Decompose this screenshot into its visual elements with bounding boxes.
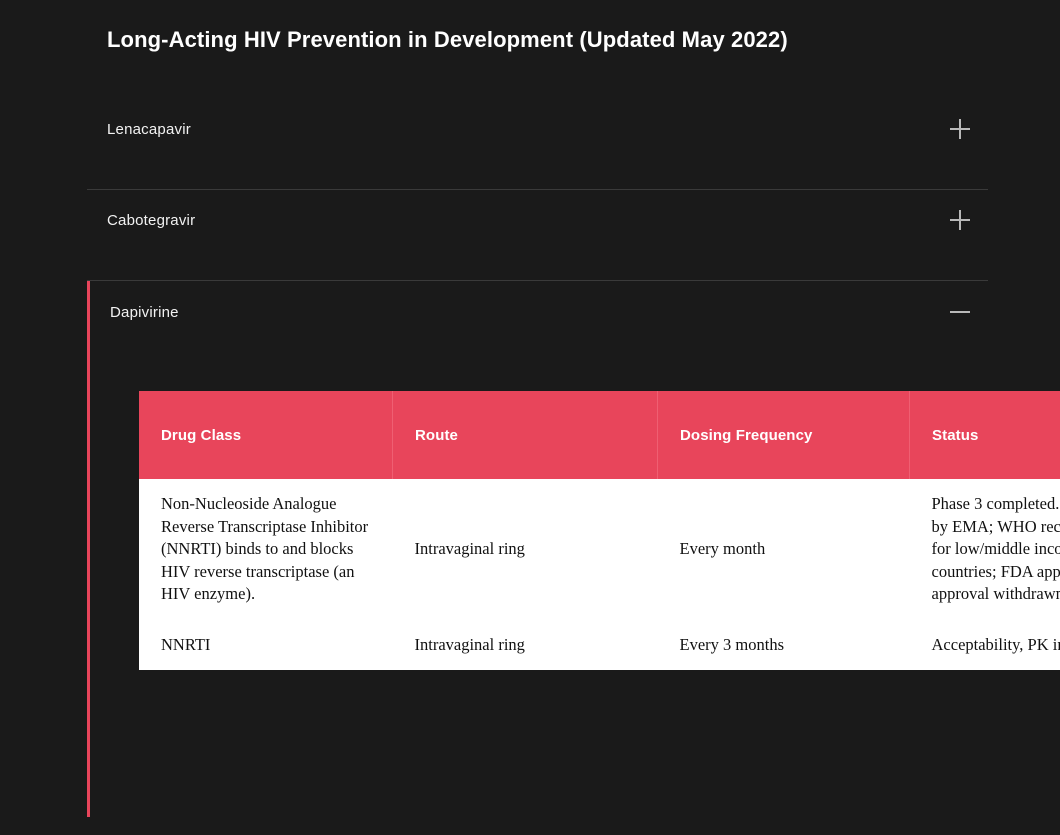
drug-accordion: Lenacapavir Cabotegravir Dapivirine (87, 99, 988, 817)
plus-icon[interactable] (948, 117, 972, 141)
plus-icon[interactable] (948, 208, 972, 232)
table-row: Non-Nucleoside Analogue Reverse Transcri… (139, 479, 1060, 620)
table-header-row: Drug Class Route Dosing Frequency Status (139, 391, 1060, 479)
table-header: Drug Class Route Dosing Frequency Status (139, 391, 1060, 479)
cell-drug-class: Non-Nucleoside Analogue Reverse Transcri… (139, 479, 393, 620)
page-title: Long-Acting HIV Prevention in Developmen… (107, 24, 788, 56)
table-row: NNRTI Intravaginal ring Every 3 months A… (139, 620, 1060, 671)
accordion-label-lenacapavir: Lenacapavir (107, 121, 191, 138)
table-body: Non-Nucleoside Analogue Reverse Transcri… (139, 479, 1060, 670)
cell-route: Intravaginal ring (393, 479, 658, 620)
minus-icon-horizontal-bar (950, 311, 970, 313)
accordion-label-cabotegravir: Cabotegravir (107, 212, 195, 229)
accordion-header-lenacapavir[interactable]: Lenacapavir (87, 99, 988, 159)
cell-dosing-frequency: Every month (658, 479, 910, 620)
minus-icon[interactable] (948, 300, 972, 324)
plus-icon-vertical-bar (959, 210, 961, 230)
cell-drug-class: NNRTI (139, 620, 393, 671)
column-header-status: Status (910, 391, 1060, 479)
drug-details-table: Drug Class Route Dosing Frequency Status… (139, 391, 1060, 670)
accordion-item-cabotegravir[interactable]: Cabotegravir (87, 190, 988, 281)
accordion-item-lenacapavir[interactable]: Lenacapavir (87, 99, 988, 190)
page-root: Long-Acting HIV Prevention in Developmen… (0, 0, 1060, 835)
column-header-route: Route (393, 391, 658, 479)
cell-route: Intravaginal ring (393, 620, 658, 671)
accordion-header-cabotegravir[interactable]: Cabotegravir (87, 190, 988, 250)
accordion-panel-dapivirine: Drug Class Route Dosing Frequency Status… (90, 343, 988, 670)
cell-status: Acceptability, PK in humans (910, 620, 1060, 671)
column-header-dosing-frequency: Dosing Frequency (658, 391, 910, 479)
plus-icon-vertical-bar (959, 119, 961, 139)
column-header-drug-class: Drug Class (139, 391, 393, 479)
accordion-item-dapivirine[interactable]: Dapivirine Drug Class Route Dosing Frequ… (87, 281, 988, 817)
cell-status: Phase 3 completed. Approved by EMA; WHO … (910, 479, 1060, 620)
cell-dosing-frequency: Every 3 months (658, 620, 910, 671)
accordion-label-dapivirine: Dapivirine (110, 304, 179, 321)
accordion-header-dapivirine[interactable]: Dapivirine (90, 281, 988, 343)
